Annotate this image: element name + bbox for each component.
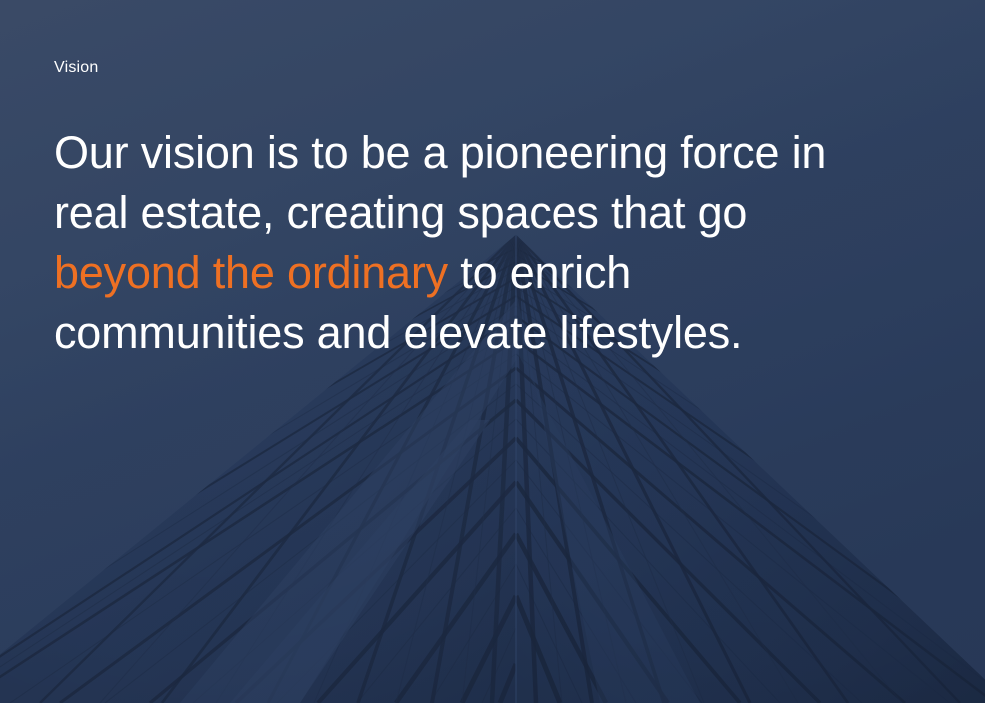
headline-line-4: communities and elevate lifestyles. (54, 303, 914, 363)
headline-line-3-rest: to enrich (448, 247, 631, 298)
section-label-vision: Vision (54, 58, 99, 78)
page-title: Our vision is to be a pioneering force i… (54, 123, 914, 363)
headline-line-1: Our vision is to be a pioneering force i… (54, 123, 914, 183)
headline-line-3: beyond the ordinary to enrich (54, 243, 914, 303)
vision-slide: Vision Our vision is to be a pioneering … (0, 0, 985, 703)
slide-content: Vision Our vision is to be a pioneering … (54, 0, 934, 703)
headline-accent-phrase: beyond the ordinary (54, 247, 448, 298)
headline-line-2: real estate, creating spaces that go (54, 183, 914, 243)
